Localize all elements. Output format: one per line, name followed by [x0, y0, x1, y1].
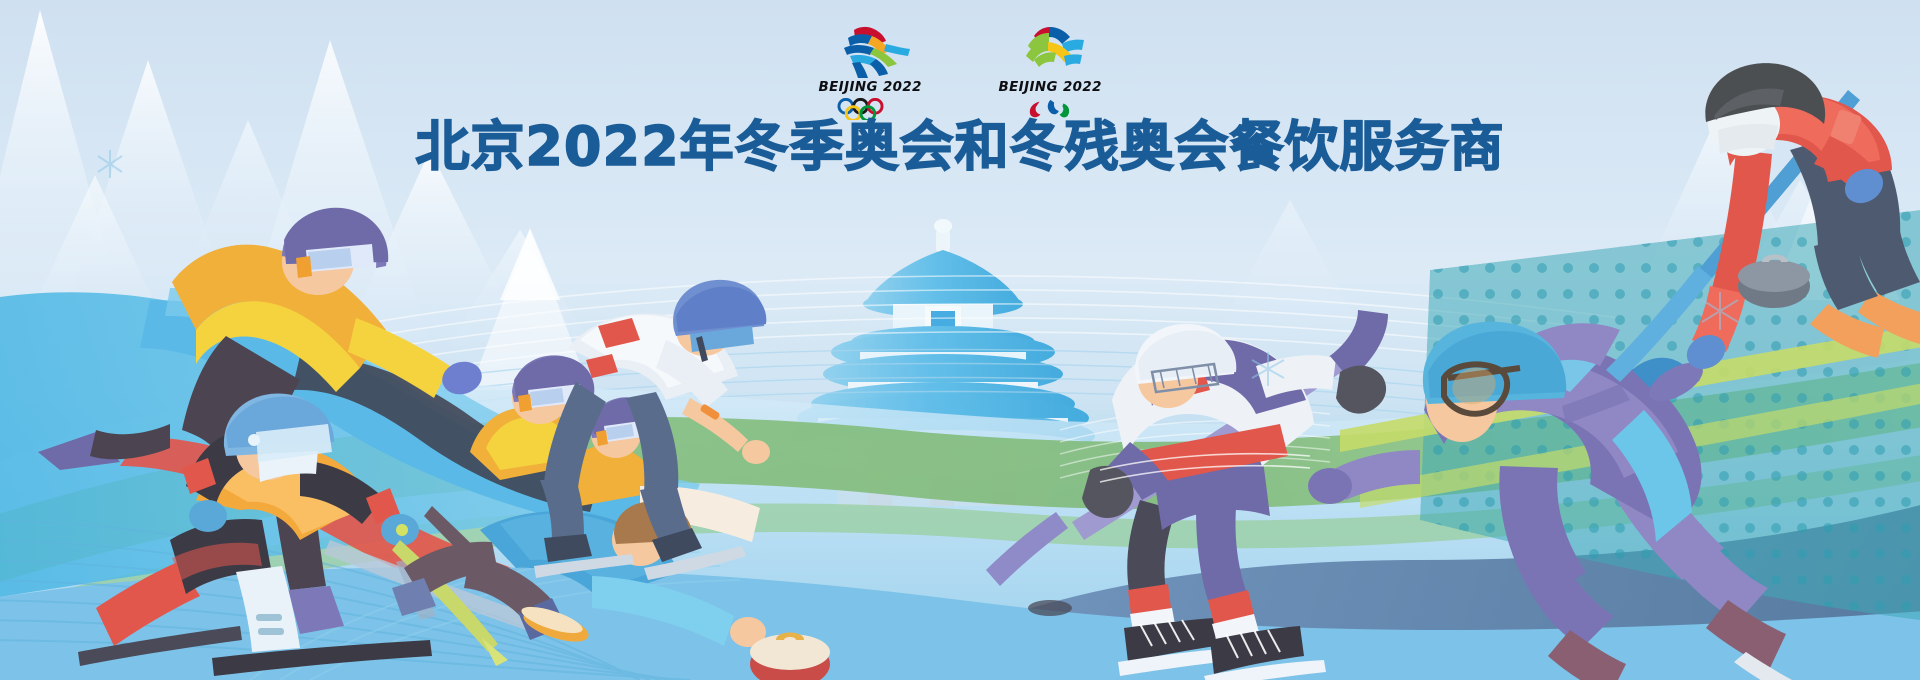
- beijing-2022-winter-paralympics-emblem: [1004, 22, 1096, 78]
- olympic-emblem-block: BEIJING 2022: [810, 22, 930, 120]
- paralympic-emblem-block: BEIJING 2022: [990, 22, 1110, 120]
- olympic-wordmark: BEIJING 2022: [818, 80, 921, 95]
- paralympic-wordmark: BEIJING 2022: [998, 80, 1101, 95]
- page-title: 北京2022年冬季奥会和冬残奥会餐饮服务商: [415, 117, 1504, 177]
- beijing-2022-catering-banner: BEIJING 2022: [0, 0, 1920, 680]
- beijing-2022-winter-olympics-emblem: [824, 22, 916, 78]
- emblem-group: BEIJING 2022: [0, 22, 1920, 120]
- title-container: 北京2022年冬季奥会和冬残奥会餐饮服务商: [0, 117, 1920, 177]
